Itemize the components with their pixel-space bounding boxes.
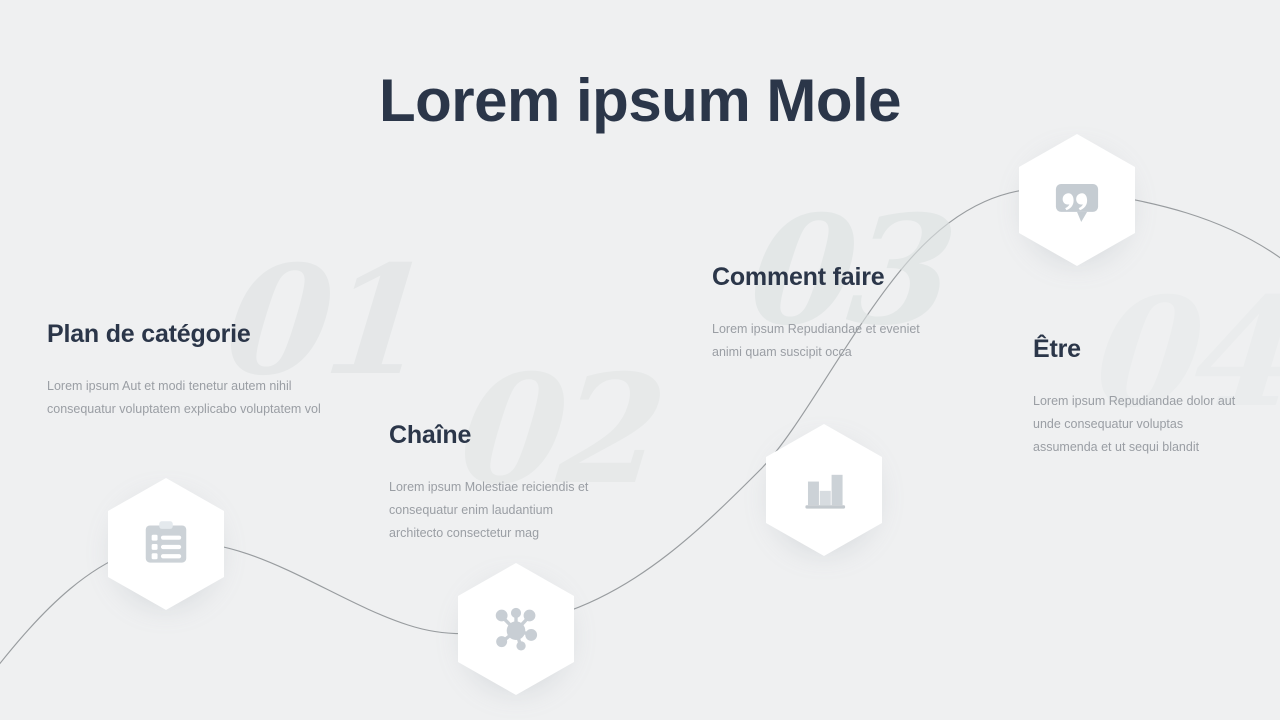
step-hexagon-2[interactable]	[458, 563, 574, 695]
step-text-block-1: Plan de catégorie Lorem ipsum Aut et mod…	[47, 320, 339, 421]
step-heading-3: Comment faire	[712, 263, 944, 292]
step-hexagon-3[interactable]	[766, 424, 882, 556]
step-body-2: Lorem ipsum Molestiae reiciendis et cons…	[389, 476, 607, 545]
step-body-1: Lorem ipsum Aut et modi tenetur autem ni…	[47, 375, 339, 421]
quote-bubble-icon	[1050, 173, 1104, 227]
clipboard-checklist-icon	[139, 517, 193, 571]
step-heading-4: Être	[1033, 335, 1239, 364]
bar-chart-icon	[797, 463, 851, 517]
slide-canvas: 01 02 03 04 Lorem ipsum Mole Plan de cat…	[0, 0, 1280, 720]
step-hexagon-4[interactable]	[1019, 134, 1135, 266]
step-text-block-2: Chaîne Lorem ipsum Molestiae reiciendis …	[389, 421, 607, 545]
step-heading-2: Chaîne	[389, 421, 607, 450]
step-body-3: Lorem ipsum Repudiandae et eveniet animi…	[712, 318, 944, 364]
step-heading-1: Plan de catégorie	[47, 320, 339, 349]
step-body-4: Lorem ipsum Repudiandae dolor aut unde c…	[1033, 390, 1239, 459]
network-nodes-icon	[489, 602, 543, 656]
step-hexagon-1[interactable]	[108, 478, 224, 610]
step-text-block-3: Comment faire Lorem ipsum Repudiandae et…	[712, 263, 944, 364]
slide-title: Lorem ipsum Mole	[0, 68, 1280, 134]
step-text-block-4: Être Lorem ipsum Repudiandae dolor aut u…	[1033, 335, 1239, 459]
